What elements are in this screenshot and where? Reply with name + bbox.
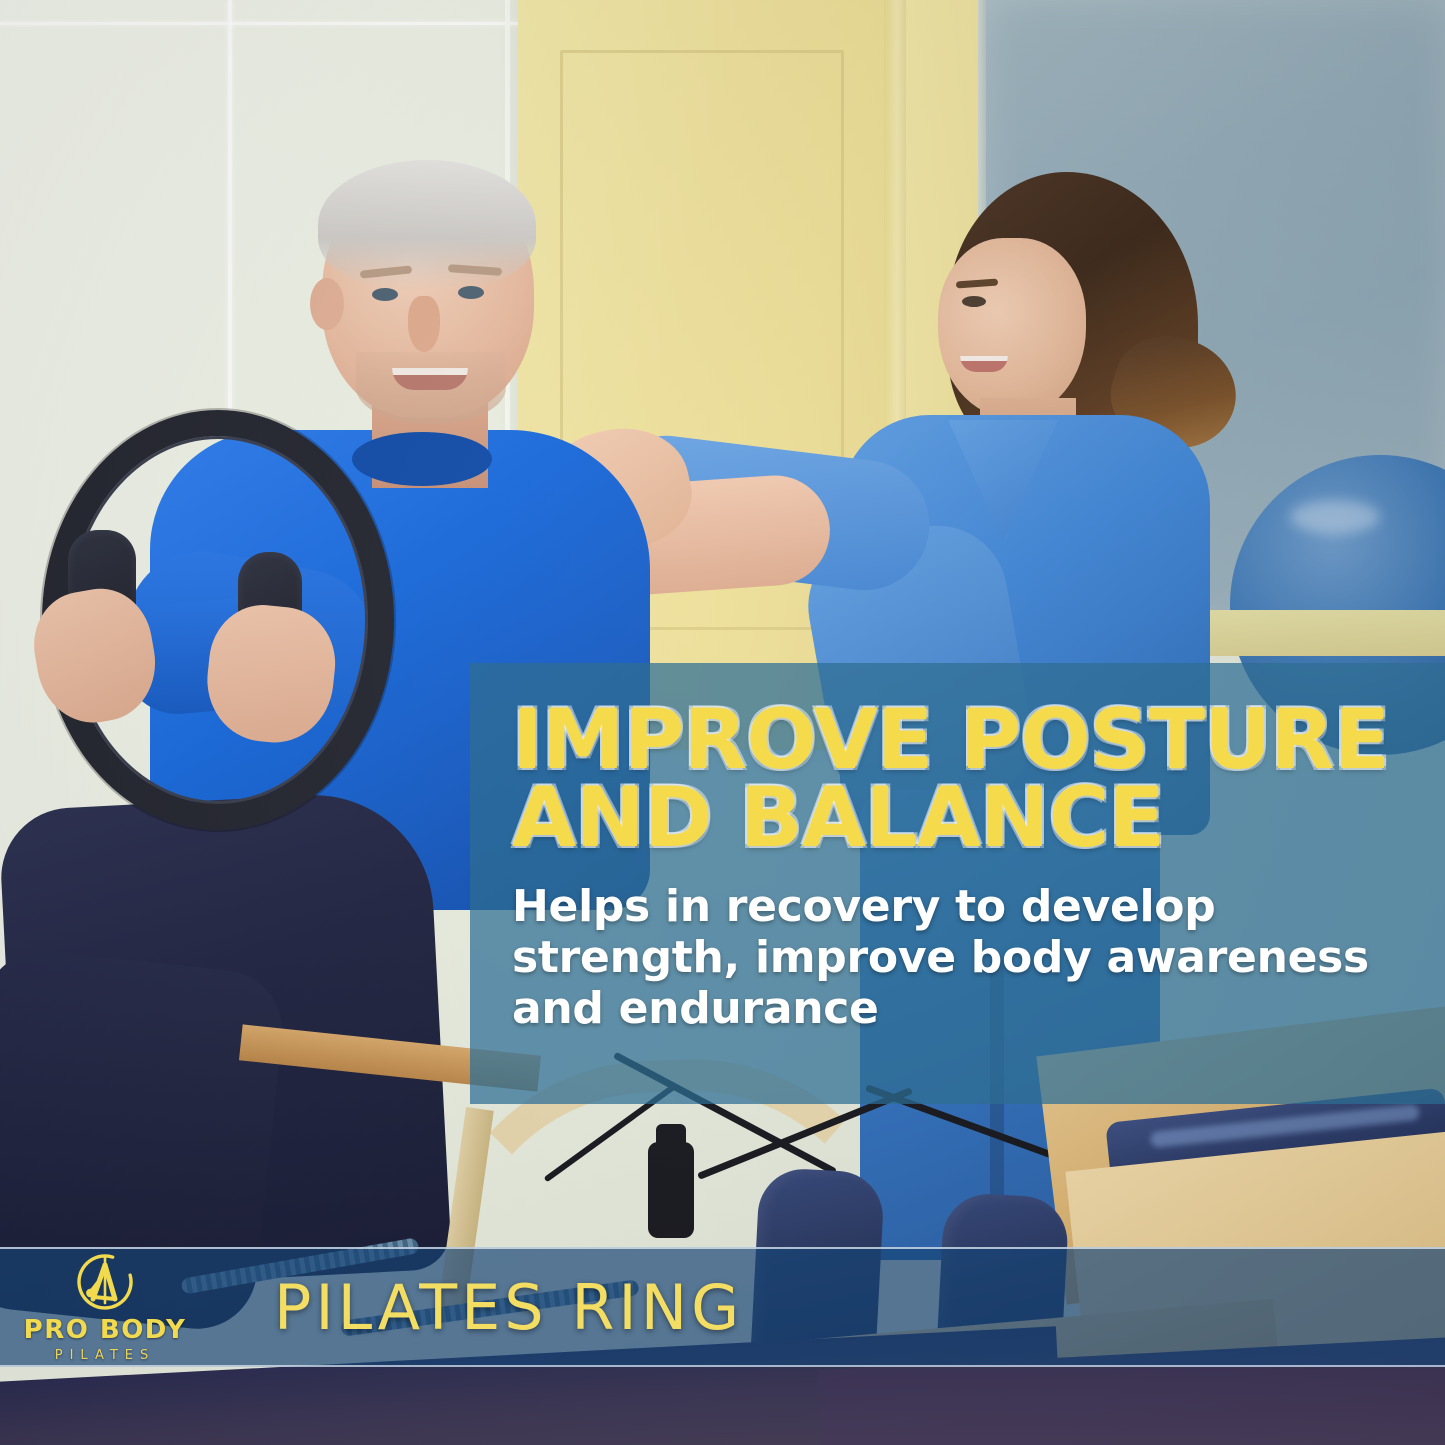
therapist-eye — [962, 296, 986, 307]
pulley-top — [656, 1124, 686, 1150]
text-overlay-panel: IMPROVE POSTURE AND BALANCE Helps in rec… — [470, 663, 1445, 1104]
wall-seam-horizontal — [0, 22, 520, 25]
headline: IMPROVE POSTURE AND BALANCE — [512, 701, 1403, 857]
brand-name: PRO BODY — [24, 1317, 187, 1343]
brand-subtitle: PILATES — [55, 1349, 156, 1362]
man-sweater-collar — [352, 432, 492, 486]
man-hair — [318, 160, 536, 290]
therapist-face — [938, 238, 1086, 418]
equipment-pulley — [648, 1142, 694, 1238]
man-nose — [408, 296, 440, 352]
product-title: PILATES RING — [274, 1271, 743, 1344]
pilates-figure-in-ring-icon — [68, 1253, 142, 1315]
man-ear — [310, 278, 344, 330]
bottom-brand-banner: PRO BODY PILATES PILATES RING — [0, 1247, 1445, 1367]
product-marketing-image: IMPROVE POSTURE AND BALANCE Helps in rec… — [0, 0, 1445, 1445]
exercise-ball-highlight — [1290, 500, 1380, 534]
man-mouth-smiling — [392, 368, 468, 390]
man-eye-right — [458, 286, 484, 299]
subheadline: Helps in recovery to develop strength, i… — [512, 881, 1403, 1034]
brand-logo: PRO BODY PILATES — [0, 1249, 210, 1365]
man-eye-left — [372, 288, 398, 301]
